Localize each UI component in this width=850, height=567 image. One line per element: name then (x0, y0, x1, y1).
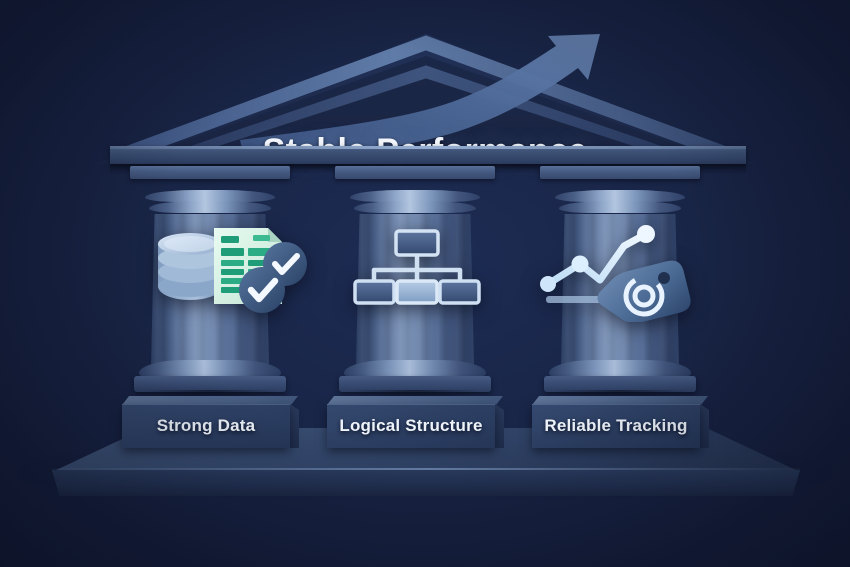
database-icon (158, 233, 222, 300)
column-ring (354, 201, 476, 213)
plaque-logical-structure[interactable]: Logical Structure (327, 396, 503, 448)
pillar-label-strong-data: Strong Data (122, 404, 290, 448)
icon-group-reliable-tracking (538, 222, 703, 322)
architrave-highlight (110, 146, 746, 149)
column-ring (149, 201, 271, 213)
plaque-side-face (700, 404, 709, 448)
floor-platform-front (52, 470, 800, 496)
poster-scene: Stable Performance (0, 0, 850, 567)
pillar-label-reliable-tracking: Reliable Tracking (532, 404, 700, 448)
plaque-reliable-tracking[interactable]: Reliable Tracking (532, 396, 708, 448)
plaque-side-face (290, 404, 299, 448)
hierarchy-node-icon (440, 281, 479, 303)
hierarchy-connector-lines (374, 254, 460, 282)
hierarchy-node-icon (396, 231, 438, 255)
pillar-label-logical-structure: Logical Structure (327, 404, 495, 448)
plaque-strong-data[interactable]: Strong Data (122, 396, 298, 448)
column-ring (559, 201, 681, 213)
icon-group-strong-data (150, 222, 310, 317)
hierarchy-node-icon (355, 281, 394, 303)
icon-group-logical-structure (352, 228, 482, 308)
hierarchy-node-icon (397, 281, 437, 303)
plaque-side-face (495, 404, 504, 448)
check-circle-icon (239, 267, 285, 313)
